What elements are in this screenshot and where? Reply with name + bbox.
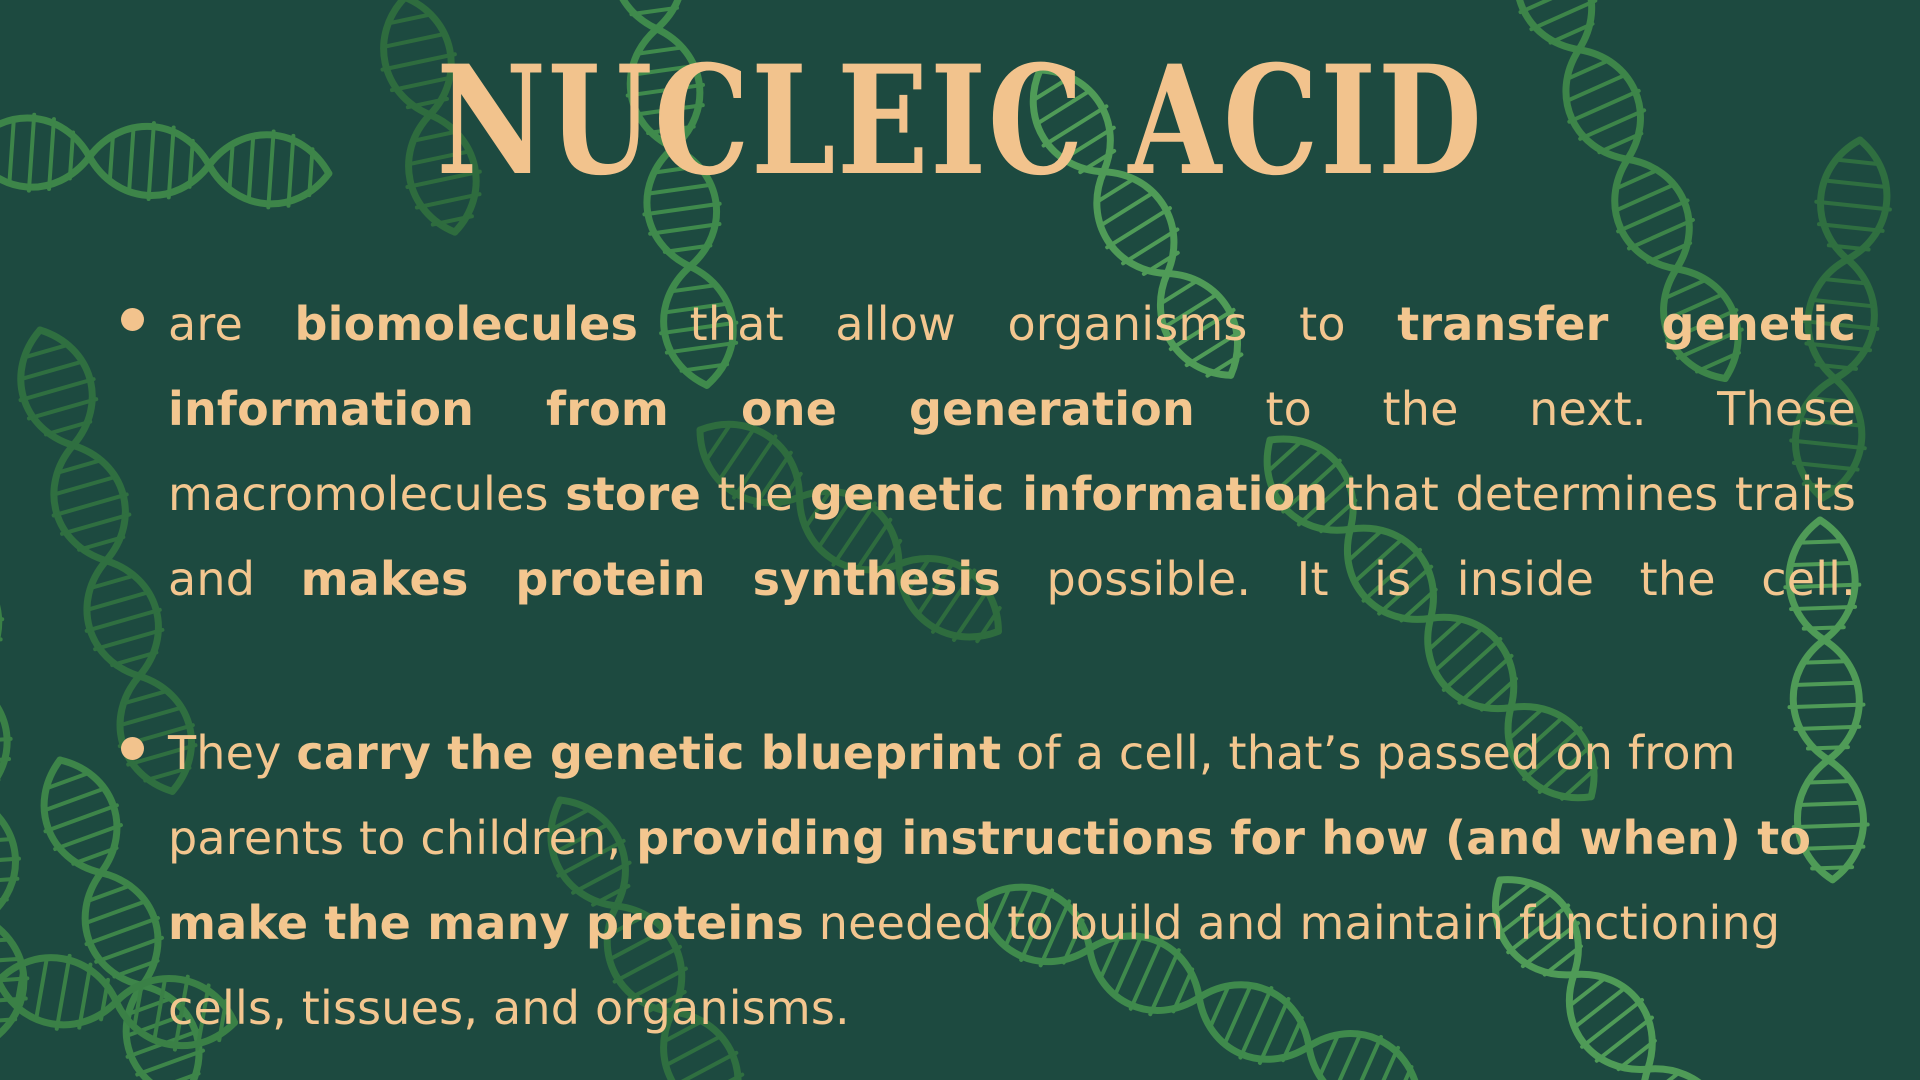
- plain-text: They: [168, 726, 296, 780]
- bullet-marker-cell: [96, 282, 168, 331]
- emphasis-text: makes protein synthesis: [301, 552, 1001, 606]
- emphasis-text: biomolecules: [295, 297, 639, 351]
- bullet-dot-icon: [121, 308, 144, 331]
- bullet-dot-icon: [121, 737, 144, 760]
- bullet-1-text: are biomolecules that allow organisms to…: [168, 282, 1856, 707]
- plain-text: that allow organisms to: [638, 297, 1397, 351]
- slide-content: NUCLEIC ACID are biomolecules that allow…: [0, 0, 1920, 1080]
- bullet-marker-cell: [96, 711, 168, 760]
- plain-text: possible. It is inside the cell.: [1001, 552, 1856, 606]
- emphasis-text: carry the genetic blueprint: [296, 726, 1001, 780]
- bullet-2-text: They carry the genetic blueprint of a ce…: [168, 711, 1856, 1051]
- plain-text: the: [701, 467, 810, 521]
- emphasis-text: store: [565, 467, 701, 521]
- plain-text: are: [168, 297, 295, 351]
- slide-root: NUCLEIC ACID are biomolecules that allow…: [0, 0, 1920, 1080]
- bullet-list: are biomolecules that allow organisms to…: [96, 282, 1856, 1055]
- page-title: NUCLEIC ACID: [192, 46, 1728, 196]
- list-item: They carry the genetic blueprint of a ce…: [96, 711, 1856, 1051]
- emphasis-text: genetic information: [810, 467, 1328, 521]
- list-item: are biomolecules that allow organisms to…: [96, 282, 1856, 707]
